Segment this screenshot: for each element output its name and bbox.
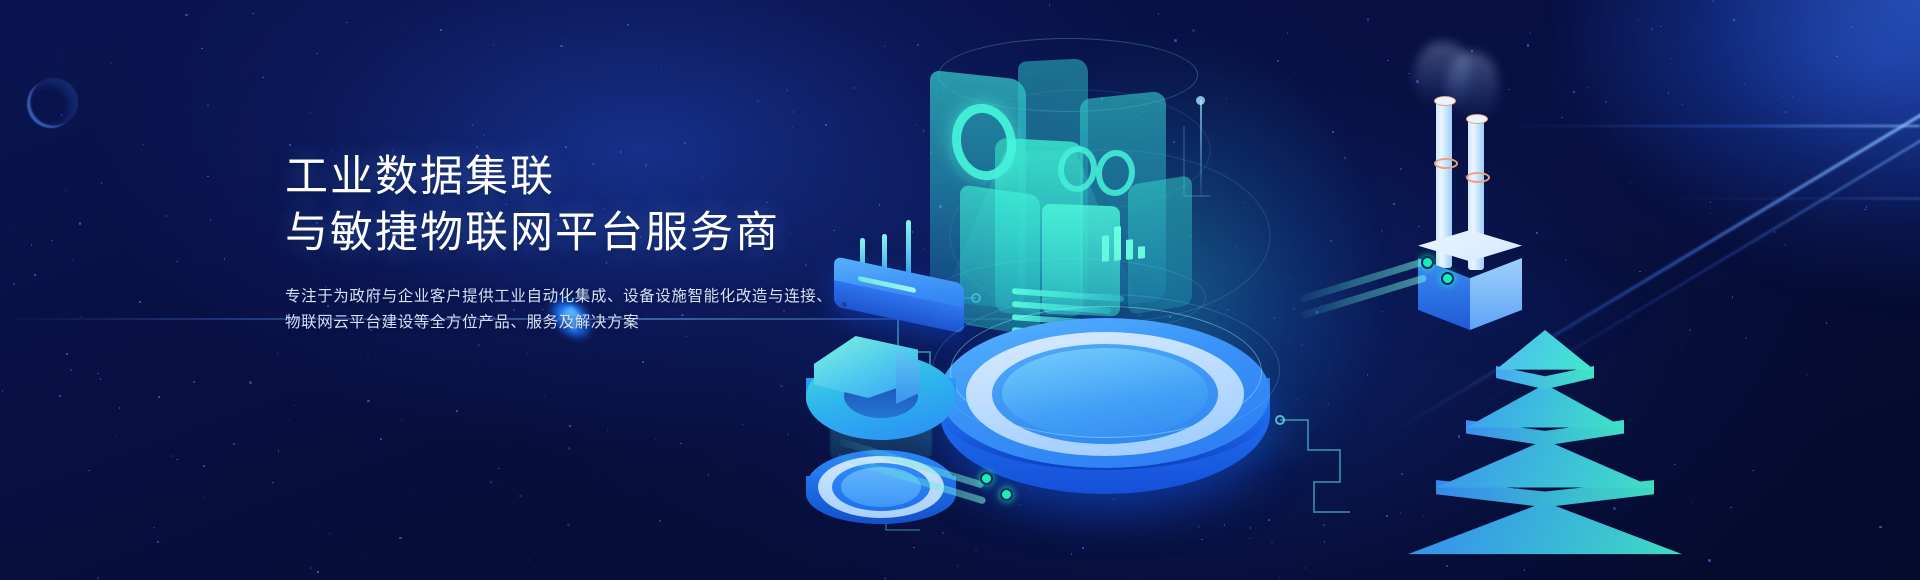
star-dot: [250, 105, 252, 107]
star-dot: [569, 425, 571, 427]
star-dot: [529, 559, 531, 561]
connector-node-icon: [980, 472, 993, 485]
star-dot: [493, 44, 495, 46]
star-dot: [70, 369, 72, 371]
star-dot: [193, 381, 195, 383]
smokestack-cap: [1434, 96, 1456, 106]
star-dot: [289, 144, 291, 146]
star-dot: [176, 261, 178, 263]
star-dot: [79, 222, 82, 225]
star-dot: [62, 55, 64, 57]
star-dot: [708, 474, 710, 476]
star-dot: [314, 524, 316, 526]
connector-node-icon: [1441, 272, 1454, 285]
star-dot: [607, 430, 609, 432]
smoke-plume-icon: [1446, 52, 1498, 122]
star-dot: [478, 344, 480, 346]
star-dot: [139, 301, 141, 303]
star-dot: [329, 533, 331, 535]
star-dot: [157, 541, 160, 544]
star-dot: [2, 390, 4, 392]
star-dot: [757, 100, 759, 102]
star-dot: [88, 470, 90, 472]
star-dot: [100, 378, 102, 380]
smokestack-band: [1434, 158, 1458, 169]
star-dot: [562, 38, 564, 40]
star-dot: [661, 69, 663, 71]
star-dot: [365, 555, 367, 557]
star-dot: [34, 274, 36, 276]
star-dot: [249, 381, 252, 384]
star-dot: [170, 455, 172, 457]
smokestack-cap: [1466, 114, 1488, 124]
star-dot: [262, 77, 264, 79]
star-dot: [642, 361, 644, 363]
star-dot: [110, 62, 112, 64]
star-dot: [310, 112, 312, 114]
star-dot: [367, 354, 370, 357]
star-dot: [659, 520, 662, 523]
crescent-moon-icon: [30, 78, 78, 126]
star-dot: [316, 53, 318, 55]
star-dot: [185, 14, 188, 17]
star-dot: [148, 392, 150, 394]
star-dot: [224, 258, 226, 260]
star-dot: [207, 104, 210, 107]
star-dot: [367, 400, 370, 403]
star-dot: [476, 146, 479, 149]
star-dot: [560, 45, 563, 48]
star-dot: [405, 28, 407, 30]
star-dot: [568, 447, 571, 450]
layered-pyramid: [1420, 330, 1670, 580]
star-dot: [201, 48, 203, 50]
star-dot: [101, 182, 103, 184]
star-dot: [158, 396, 160, 398]
router-led-icon: [842, 301, 847, 307]
star-dot: [565, 146, 567, 148]
star-dot: [708, 508, 710, 510]
star-dot: [166, 215, 168, 217]
disc-halo-outer: [932, 294, 1280, 446]
star-dot: [398, 454, 400, 456]
star-dot: [567, 524, 570, 527]
star-dot: [119, 407, 121, 409]
star-dot: [310, 567, 312, 569]
star-dot: [317, 571, 319, 573]
hero-banner: 工业数据集联 与敏捷物联网平台服务商 专注于为政府与企业客户提供工业自动化集成、…: [0, 0, 1920, 580]
hero-illustration: [780, 0, 1920, 580]
star-dot: [203, 496, 205, 498]
star-dot: [59, 395, 61, 397]
star-dot: [203, 465, 205, 467]
star-dot: [143, 144, 145, 146]
star-dot: [277, 353, 279, 355]
star-dot: [742, 424, 744, 426]
star-dot: [115, 435, 117, 437]
star-dot: [627, 24, 629, 26]
star-dot: [490, 481, 492, 483]
star-dot: [66, 353, 68, 355]
star-dot: [680, 443, 682, 445]
star-dot: [346, 22, 348, 24]
star-dot: [401, 419, 403, 421]
star-dot: [233, 443, 235, 445]
star-dot: [176, 459, 178, 461]
star-dot: [272, 482, 274, 484]
star-dot: [655, 438, 657, 440]
star-dot: [72, 259, 74, 261]
star-dot: [544, 394, 546, 396]
star-dot: [293, 405, 295, 407]
antenna-pole-icon: [1200, 100, 1202, 196]
star-dot: [408, 492, 410, 494]
smokestack-band: [1466, 172, 1490, 183]
star-dot: [456, 410, 459, 413]
connector-node-icon: [1421, 256, 1434, 269]
star-dot: [51, 240, 53, 242]
star-dot: [153, 527, 155, 529]
star-dot: [472, 124, 474, 126]
donut-chart-object: [792, 330, 972, 560]
star-dot: [483, 134, 486, 137]
star-dot: [97, 373, 99, 375]
star-dot: [9, 230, 11, 232]
star-dot: [498, 468, 500, 470]
star-dot: [288, 419, 290, 421]
star-dot: [252, 13, 254, 15]
star-dot: [13, 283, 15, 285]
star-dot: [440, 29, 442, 31]
star-dot: [207, 176, 209, 178]
star-dot: [401, 537, 403, 539]
antenna-tip-icon: [1196, 96, 1205, 105]
star-dot: [31, 244, 33, 246]
star-dot: [380, 438, 382, 440]
star-dot: [399, 537, 401, 539]
pyramid-tier: [1408, 502, 1682, 580]
star-dot: [65, 190, 67, 192]
star-dot: [278, 450, 280, 452]
star-dot: [97, 577, 99, 579]
star-dot: [473, 367, 475, 369]
mini-bar: [1138, 246, 1145, 259]
star-dot: [527, 353, 529, 355]
mini-bar: [1126, 239, 1133, 260]
star-dot: [210, 219, 212, 221]
star-dot: [519, 495, 522, 498]
star-dot: [684, 142, 686, 144]
connector-node-icon: [1000, 488, 1013, 501]
star-dot: [503, 487, 505, 489]
